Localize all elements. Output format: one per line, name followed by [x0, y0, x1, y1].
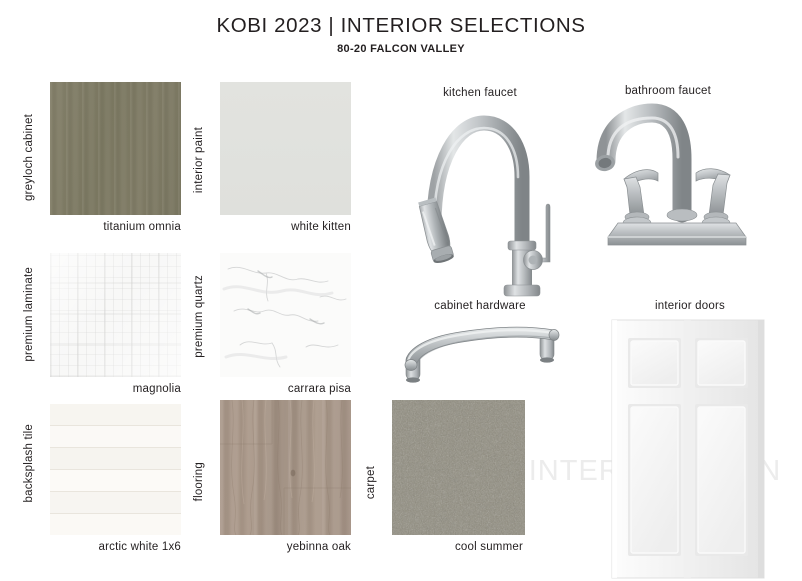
- interior-door-image: [600, 316, 780, 581]
- swatch-card-flooring: flooring: [194, 400, 351, 553]
- swatch-category-carpet: carpet: [365, 466, 377, 499]
- wood-plank-grain-icon: [220, 400, 351, 535]
- swatch-premium-laminate: [50, 253, 181, 377]
- kitchen-faucet-image: [400, 99, 560, 299]
- swatch-flooring: [220, 400, 351, 535]
- swatch-name-greyloch-cabinet: titanium omnia: [24, 221, 181, 233]
- swatch-category-premium-laminate: premium laminate: [23, 267, 35, 362]
- swatch-card-carpet: carpet: [366, 400, 523, 553]
- product-label-kitchen-faucet: kitchen faucet: [400, 87, 560, 99]
- swatch-card-greyloch-cabinet: greyloch cabinet titanium omnia: [24, 82, 181, 233]
- swatch-name-flooring: yebinna oak: [194, 541, 351, 553]
- swatch-name-backsplash-tile: arctic white 1x6: [24, 541, 181, 553]
- swatch-category-greyloch-cabinet: greyloch cabinet: [23, 114, 35, 201]
- swatch-card-premium-quartz: premium quartz: [194, 253, 351, 395]
- product-label-bathroom-faucet: bathroom faucet: [578, 85, 758, 97]
- product-card-interior-doors: interior doors: [600, 300, 780, 581]
- marble-veining-icon: [220, 253, 351, 377]
- page-header: KOBI 2023 | INTERIOR SELECTIONS 80-20 FA…: [0, 14, 802, 55]
- product-card-kitchen-faucet: kitchen faucet: [400, 87, 560, 299]
- swatch-premium-quartz: [220, 253, 351, 377]
- swatch-category-premium-quartz: premium quartz: [193, 275, 205, 358]
- product-card-bathroom-faucet: bathroom faucet: [578, 85, 758, 272]
- swatch-category-flooring: flooring: [193, 462, 205, 501]
- swatch-carpet: [392, 400, 525, 535]
- swatch-name-carpet: cool summer: [366, 541, 523, 553]
- swatch-card-interior-paint: interior paint white kitten: [194, 82, 351, 233]
- carpet-fiber-texture-icon: [392, 400, 525, 535]
- page-title: KOBI 2023 | INTERIOR SELECTIONS: [0, 14, 802, 38]
- swatch-greyloch-cabinet: [50, 82, 181, 215]
- product-card-cabinet-hardware: cabinet hardware: [390, 300, 570, 392]
- subway-tile-pattern-icon: [50, 404, 181, 535]
- swatch-name-premium-quartz: carrara pisa: [194, 383, 351, 395]
- product-label-interior-doors: interior doors: [600, 300, 780, 312]
- swatch-backsplash-tile: [50, 404, 181, 535]
- swatch-category-backsplash-tile: backsplash tile: [23, 424, 35, 502]
- cabinet-hardware-image: [390, 312, 570, 392]
- swatch-interior-paint: [220, 82, 351, 215]
- page-subtitle: 80-20 FALCON VALLEY: [0, 43, 802, 55]
- swatch-name-interior-paint: white kitten: [194, 221, 351, 233]
- swatch-category-interior-paint: interior paint: [193, 127, 205, 193]
- swatch-card-backsplash-tile: backsplash tile arctic white 1x6: [24, 404, 181, 553]
- bathroom-faucet-image: [578, 97, 758, 272]
- swatch-name-premium-laminate: magnolia: [24, 383, 181, 395]
- product-label-cabinet-hardware: cabinet hardware: [390, 300, 570, 312]
- swatch-card-premium-laminate: premium laminate magnolia: [24, 253, 181, 395]
